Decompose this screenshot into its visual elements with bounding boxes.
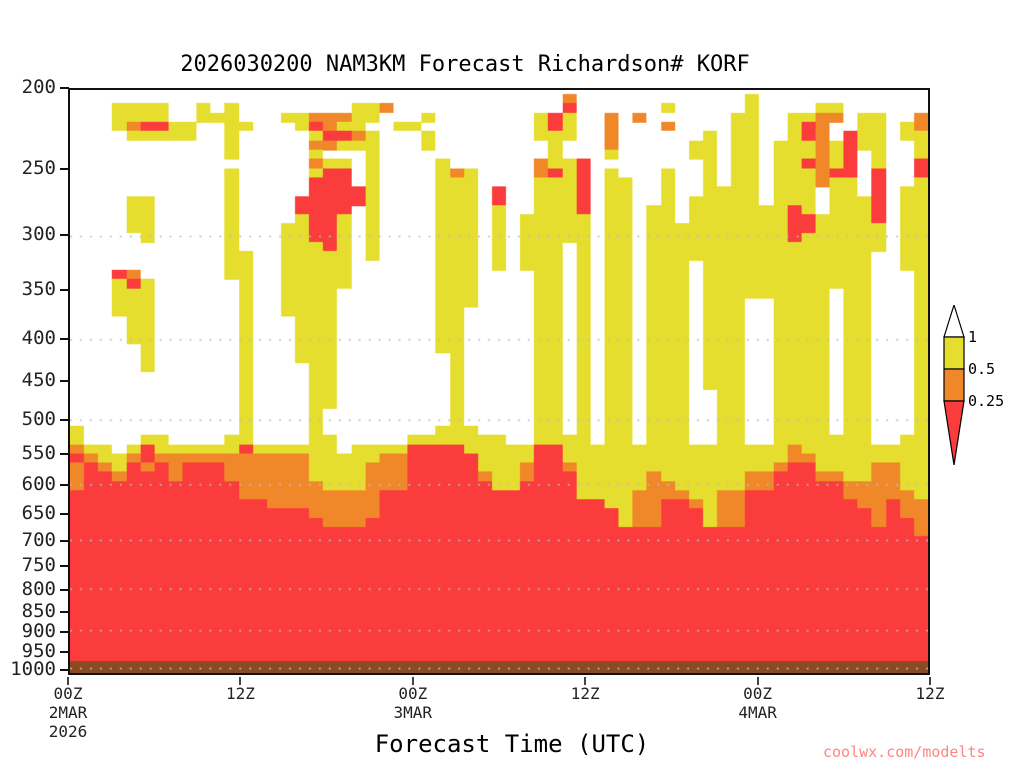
x-tick-date: 4MAR (708, 703, 808, 722)
x-tick-time: 00Z (398, 684, 427, 703)
x-tick-label: 12Z (190, 684, 290, 703)
watermark: coolwx.com/modelts (823, 743, 986, 761)
colorbar-band-above-1 (944, 305, 964, 337)
x-tick-time: 12Z (226, 684, 255, 703)
x-tick-time: 12Z (571, 684, 600, 703)
x-tick-time: 00Z (743, 684, 772, 703)
x-tick-label: 12Z (880, 684, 980, 703)
colorbar (941, 305, 967, 465)
colorbar-tick-label: 0.5 (968, 360, 995, 378)
x-tick-time: 00Z (54, 684, 83, 703)
colorbar-band-below-025 (944, 401, 964, 465)
colorbar-labels: 10.50.25 (968, 305, 1024, 465)
x-tick-date: 3MAR (363, 703, 463, 722)
x-tick-label: 00Z3MAR (363, 684, 463, 722)
chart-page: 2026030200 NAM3KM Forecast Richardson# K… (0, 0, 1024, 768)
x-axis: 00Z2MAR202612Z00Z3MAR12Z00Z4MAR12Z (0, 0, 1024, 768)
colorbar-band-025-05 (944, 369, 964, 401)
x-tick-label: 12Z (535, 684, 635, 703)
x-tick-time: 12Z (916, 684, 945, 703)
x-tick-label: 00Z4MAR (708, 684, 808, 722)
colorbar-tick-label: 0.25 (968, 392, 1004, 410)
x-tick-date: 2MAR (18, 703, 118, 722)
colorbar-tick-label: 1 (968, 328, 977, 346)
colorbar-band-05-1 (944, 337, 964, 369)
